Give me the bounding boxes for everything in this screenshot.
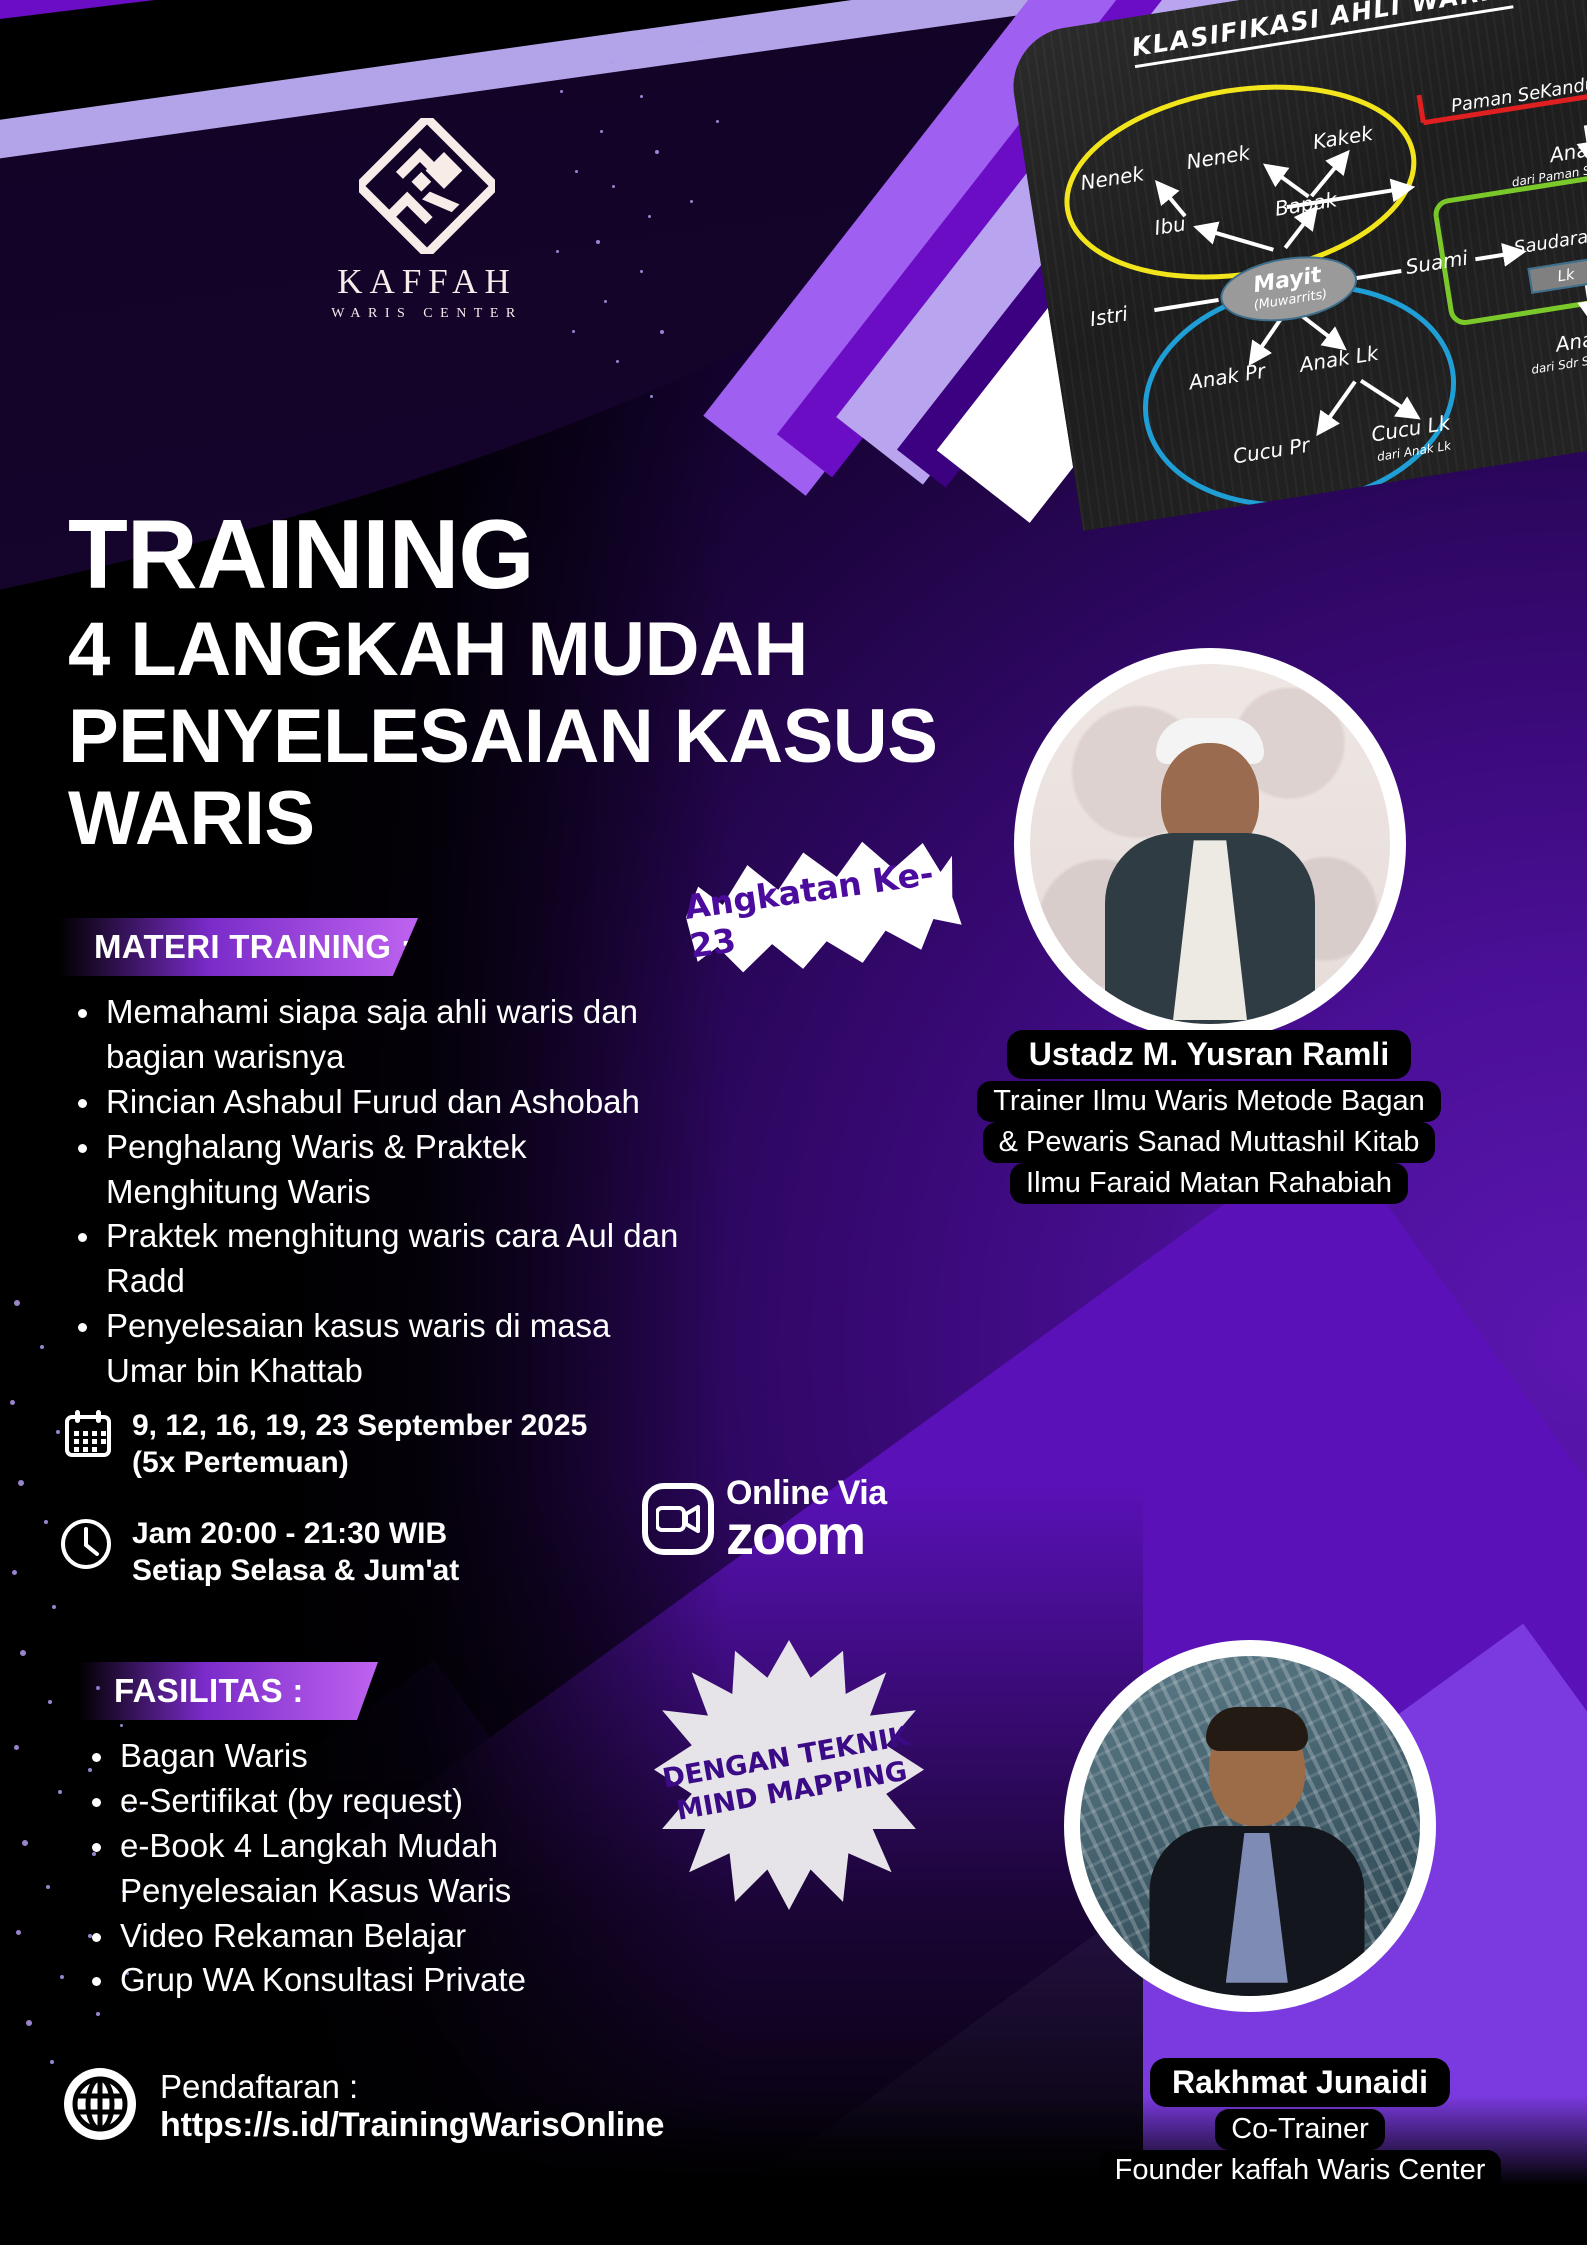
headline-line-2: 4 LANGKAH MUDAH (68, 609, 1068, 690)
zoom-platform-logo: Online Via zoom (642, 1478, 887, 1561)
trainer-2-photo (1080, 1656, 1420, 1996)
globe-icon (62, 2066, 138, 2147)
trainer-1-name: Ustadz M. Yusran Ramli (1007, 1030, 1411, 1079)
fasilitas-section-header: FASILITAS : (78, 1662, 378, 1720)
list-item: e-Sertifikat (by request) (86, 1779, 646, 1824)
brand-logo: KAFFAH WARIS CENTER (318, 118, 536, 322)
trainer-1-role-line-3: Ilmu Faraid Matan Rahabiah (1010, 1163, 1408, 1204)
trainer-1-caption: Ustadz M. Yusran Ramli Trainer Ilmu Wari… (974, 1030, 1444, 1204)
schedule-date-line-1: 9, 12, 16, 19, 23 September 2025 (132, 1408, 587, 1445)
list-item: Penghalang Waris & Praktek Menghitung Wa… (72, 1125, 692, 1215)
zoom-wordmark: zoom (726, 1503, 864, 1566)
trainer-2-role-line-2: Founder kaffah Waris Center (1099, 2150, 1502, 2191)
video-camera-icon (642, 1483, 714, 1555)
schedule-date-row: 9, 12, 16, 19, 23 September 2025 (5x Per… (62, 1408, 587, 1481)
brand-tagline: WARIS CENTER (318, 306, 536, 322)
list-item: Penyelesaian kasus waris di masa Umar bi… (72, 1304, 692, 1394)
schedule-time-line-1: Jam 20:00 - 21:30 WIB (132, 1516, 459, 1553)
schedule-date-line-2: (5x Pertemuan) (132, 1445, 587, 1482)
list-item: Video Rekaman Belajar (86, 1914, 646, 1959)
list-item: Memahami siapa saja ahli waris dan bagia… (72, 990, 692, 1080)
trainer-2-role: Co-Trainer Founder kaffah Waris Center (1020, 2109, 1580, 2191)
materi-heading: MATERI TRAINING : (94, 928, 412, 966)
trainer-1-role-line-1: Trainer Ilmu Waris Metode Bagan (977, 1081, 1440, 1122)
inheritance-diagram-board: KLASIFIKASI AHLI WARIS Nenek Nenek Kakek… (1005, 0, 1587, 531)
registration-block[interactable]: Pendaftaran : https://s.id/TrainingWaris… (62, 2066, 664, 2147)
trainer-1-role: Trainer Ilmu Waris Metode Bagan & Pewari… (974, 1081, 1444, 1204)
list-item: Rincian Ashabul Furud dan Ashobah (72, 1080, 692, 1125)
schedule-time-line-2: Setiap Selasa & Jum'at (132, 1553, 459, 1590)
trainer-1-role-line-2: & Pewaris Sanad Muttashil Kitab (983, 1122, 1436, 1163)
registration-url[interactable]: https://s.id/TrainingWarisOnline (160, 2106, 664, 2144)
diagram-node-ibu: Ibu (1153, 211, 1188, 240)
registration-label: Pendaftaran : (160, 2068, 358, 2105)
poster-canvas: KLASIFIKASI AHLI WARIS Nenek Nenek Kakek… (0, 0, 1587, 2245)
list-item: Grup WA Konsultasi Private (86, 1958, 646, 2003)
kaffah-diamond-monogram-icon (359, 118, 495, 254)
fasilitas-heading: FASILITAS : (114, 1672, 304, 1710)
brand-name: KAFFAH (318, 262, 536, 302)
materi-list: Memahami siapa saja ahli waris dan bagia… (72, 990, 692, 1394)
technique-badge-label: DENGAN TEKNIK MIND MAPPING (633, 1619, 946, 1932)
list-item: Praktek menghitung waris cara Aul dan Ra… (72, 1214, 692, 1304)
headline-line-1: TRAINING (68, 505, 1068, 603)
clock-icon (58, 1516, 114, 1577)
trainer-2-caption: Rakhmat Junaidi Co-Trainer Founder kaffa… (1020, 2058, 1580, 2191)
trainer-2-role-line-1: Co-Trainer (1215, 2109, 1385, 2150)
materi-section-header: MATERI TRAINING : (58, 918, 418, 976)
calendar-icon (62, 1408, 114, 1465)
schedule-time-row: Jam 20:00 - 21:30 WIB Setiap Selasa & Ju… (58, 1516, 459, 1589)
list-item: e-Book 4 Langkah Mudah Penyelesaian Kasu… (86, 1824, 646, 1914)
trainer-2-name: Rakhmat Junaidi (1150, 2058, 1450, 2107)
list-item: Bagan Waris (86, 1734, 646, 1779)
trainer-1-photo (1030, 664, 1390, 1024)
fasilitas-list: Bagan Waris e-Sertifikat (by request) e-… (86, 1734, 646, 2003)
headline-block: TRAINING 4 LANGKAH MUDAH PENYELESAIAN KA… (68, 505, 1068, 859)
